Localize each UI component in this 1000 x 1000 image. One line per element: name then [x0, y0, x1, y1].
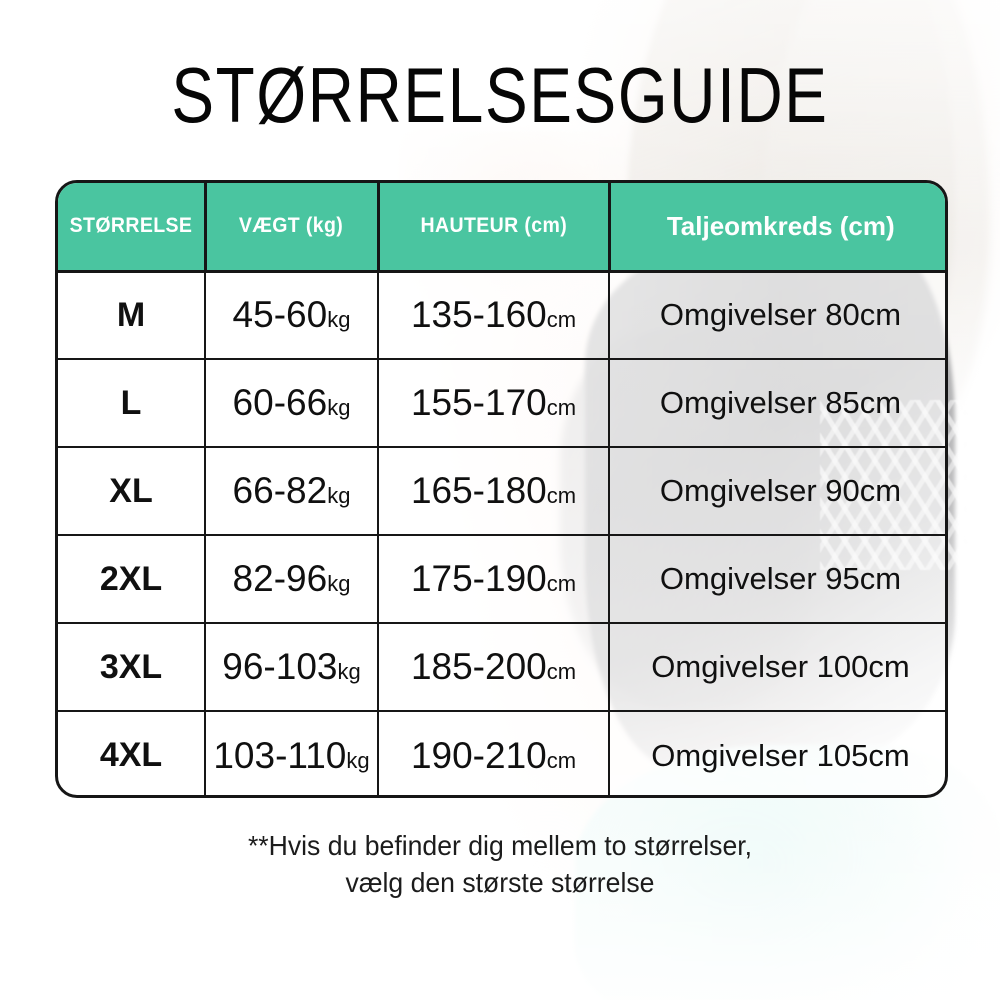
cell-weight: 82-96kg — [205, 535, 378, 623]
cell-weight: 66-82kg — [205, 447, 378, 535]
cell-waist: Omgivelser 80cm — [609, 271, 948, 359]
cell-size: 4XL — [58, 711, 205, 798]
cell-height-value: 165-180 — [411, 470, 547, 511]
table-row: L 60-66kg 155-170cm Omgivelser 85cm — [58, 359, 948, 447]
cell-weight-unit: kg — [327, 307, 350, 332]
cell-waist: Omgivelser 85cm — [609, 359, 948, 447]
size-guide-infographic: STØRRELSESGUIDE STØRRELSE VÆGT (kg) HAUT… — [0, 0, 1000, 1000]
cell-height-unit: cm — [547, 748, 576, 773]
column-header-waist: Taljeomkreds (cm) — [609, 183, 948, 271]
cell-weight: 60-66kg — [205, 359, 378, 447]
cell-height: 185-200cm — [378, 623, 609, 711]
cell-height: 155-170cm — [378, 359, 609, 447]
cell-height: 175-190cm — [378, 535, 609, 623]
table-row: 3XL 96-103kg 185-200cm Omgivelser 100cm — [58, 623, 948, 711]
table-row: XL 66-82kg 165-180cm Omgivelser 90cm — [58, 447, 948, 535]
cell-weight-value: 60-66 — [233, 382, 328, 423]
cell-size: 2XL — [58, 535, 205, 623]
footnote-line-2: vælg den største størrelse — [25, 864, 975, 901]
cell-waist: Omgivelser 90cm — [609, 447, 948, 535]
cell-weight-value: 45-60 — [233, 294, 328, 335]
cell-waist: Omgivelser 95cm — [609, 535, 948, 623]
column-header-waist-label: Taljeomkreds (cm) — [667, 211, 895, 241]
cell-weight-unit: kg — [327, 571, 350, 596]
size-chart-table: STØRRELSE VÆGT (kg) HAUTEUR (cm) Taljeom… — [58, 183, 948, 798]
footnote: **Hvis du befinder dig mellem to størrel… — [25, 827, 975, 901]
cell-height-value: 135-160 — [411, 294, 547, 335]
cell-height-value: 190-210 — [411, 735, 547, 776]
cell-size: M — [58, 271, 205, 359]
cell-height-unit: cm — [547, 659, 576, 684]
cell-size: L — [58, 359, 205, 447]
cell-weight-unit: kg — [346, 748, 369, 773]
cell-height: 165-180cm — [378, 447, 609, 535]
cell-height-value: 185-200 — [411, 646, 547, 687]
cell-weight-unit: kg — [337, 659, 360, 684]
cell-size: XL — [58, 447, 205, 535]
cell-height: 135-160cm — [378, 271, 609, 359]
size-chart-table-container: STØRRELSE VÆGT (kg) HAUTEUR (cm) Taljeom… — [55, 180, 948, 798]
column-header-height: HAUTEUR (cm) — [378, 183, 609, 271]
cell-height-value: 155-170 — [411, 382, 547, 423]
cell-weight-unit: kg — [327, 395, 350, 420]
cell-weight-value: 66-82 — [233, 470, 328, 511]
cell-weight-value: 82-96 — [233, 558, 328, 599]
column-header-height-label: HAUTEUR (cm) — [420, 214, 567, 238]
cell-height-unit: cm — [547, 395, 576, 420]
table-header-row: STØRRELSE VÆGT (kg) HAUTEUR (cm) Taljeom… — [58, 183, 948, 271]
footnote-line-1: **Hvis du befinder dig mellem to størrel… — [25, 827, 975, 864]
cell-weight: 45-60kg — [205, 271, 378, 359]
table-row: M 45-60kg 135-160cm Omgivelser 80cm — [58, 271, 948, 359]
column-header-size: STØRRELSE — [58, 183, 205, 271]
page-title: STØRRELSESGUIDE — [90, 50, 910, 141]
table-body: M 45-60kg 135-160cm Omgivelser 80cm L 60… — [58, 271, 948, 798]
cell-size: 3XL — [58, 623, 205, 711]
table-row: 2XL 82-96kg 175-190cm Omgivelser 95cm — [58, 535, 948, 623]
cell-waist: Omgivelser 100cm — [609, 623, 948, 711]
cell-height-unit: cm — [547, 307, 576, 332]
cell-height-unit: cm — [547, 571, 576, 596]
cell-height: 190-210cm — [378, 711, 609, 798]
column-header-size-label: STØRRELSE — [69, 214, 192, 238]
cell-weight-unit: kg — [327, 483, 350, 508]
cell-weight: 103-110kg — [205, 711, 378, 798]
cell-waist: Omgivelser 105cm — [609, 711, 948, 798]
column-header-weight-label: VÆGT (kg) — [239, 214, 343, 238]
cell-weight: 96-103kg — [205, 623, 378, 711]
table-header: STØRRELSE VÆGT (kg) HAUTEUR (cm) Taljeom… — [58, 183, 948, 271]
cell-weight-value: 96-103 — [222, 646, 337, 687]
cell-height-unit: cm — [547, 483, 576, 508]
column-header-weight: VÆGT (kg) — [205, 183, 378, 271]
cell-weight-value: 103-110 — [213, 735, 346, 776]
table-row: 4XL 103-110kg 190-210cm Omgivelser 105cm — [58, 711, 948, 798]
cell-height-value: 175-190 — [411, 558, 547, 599]
